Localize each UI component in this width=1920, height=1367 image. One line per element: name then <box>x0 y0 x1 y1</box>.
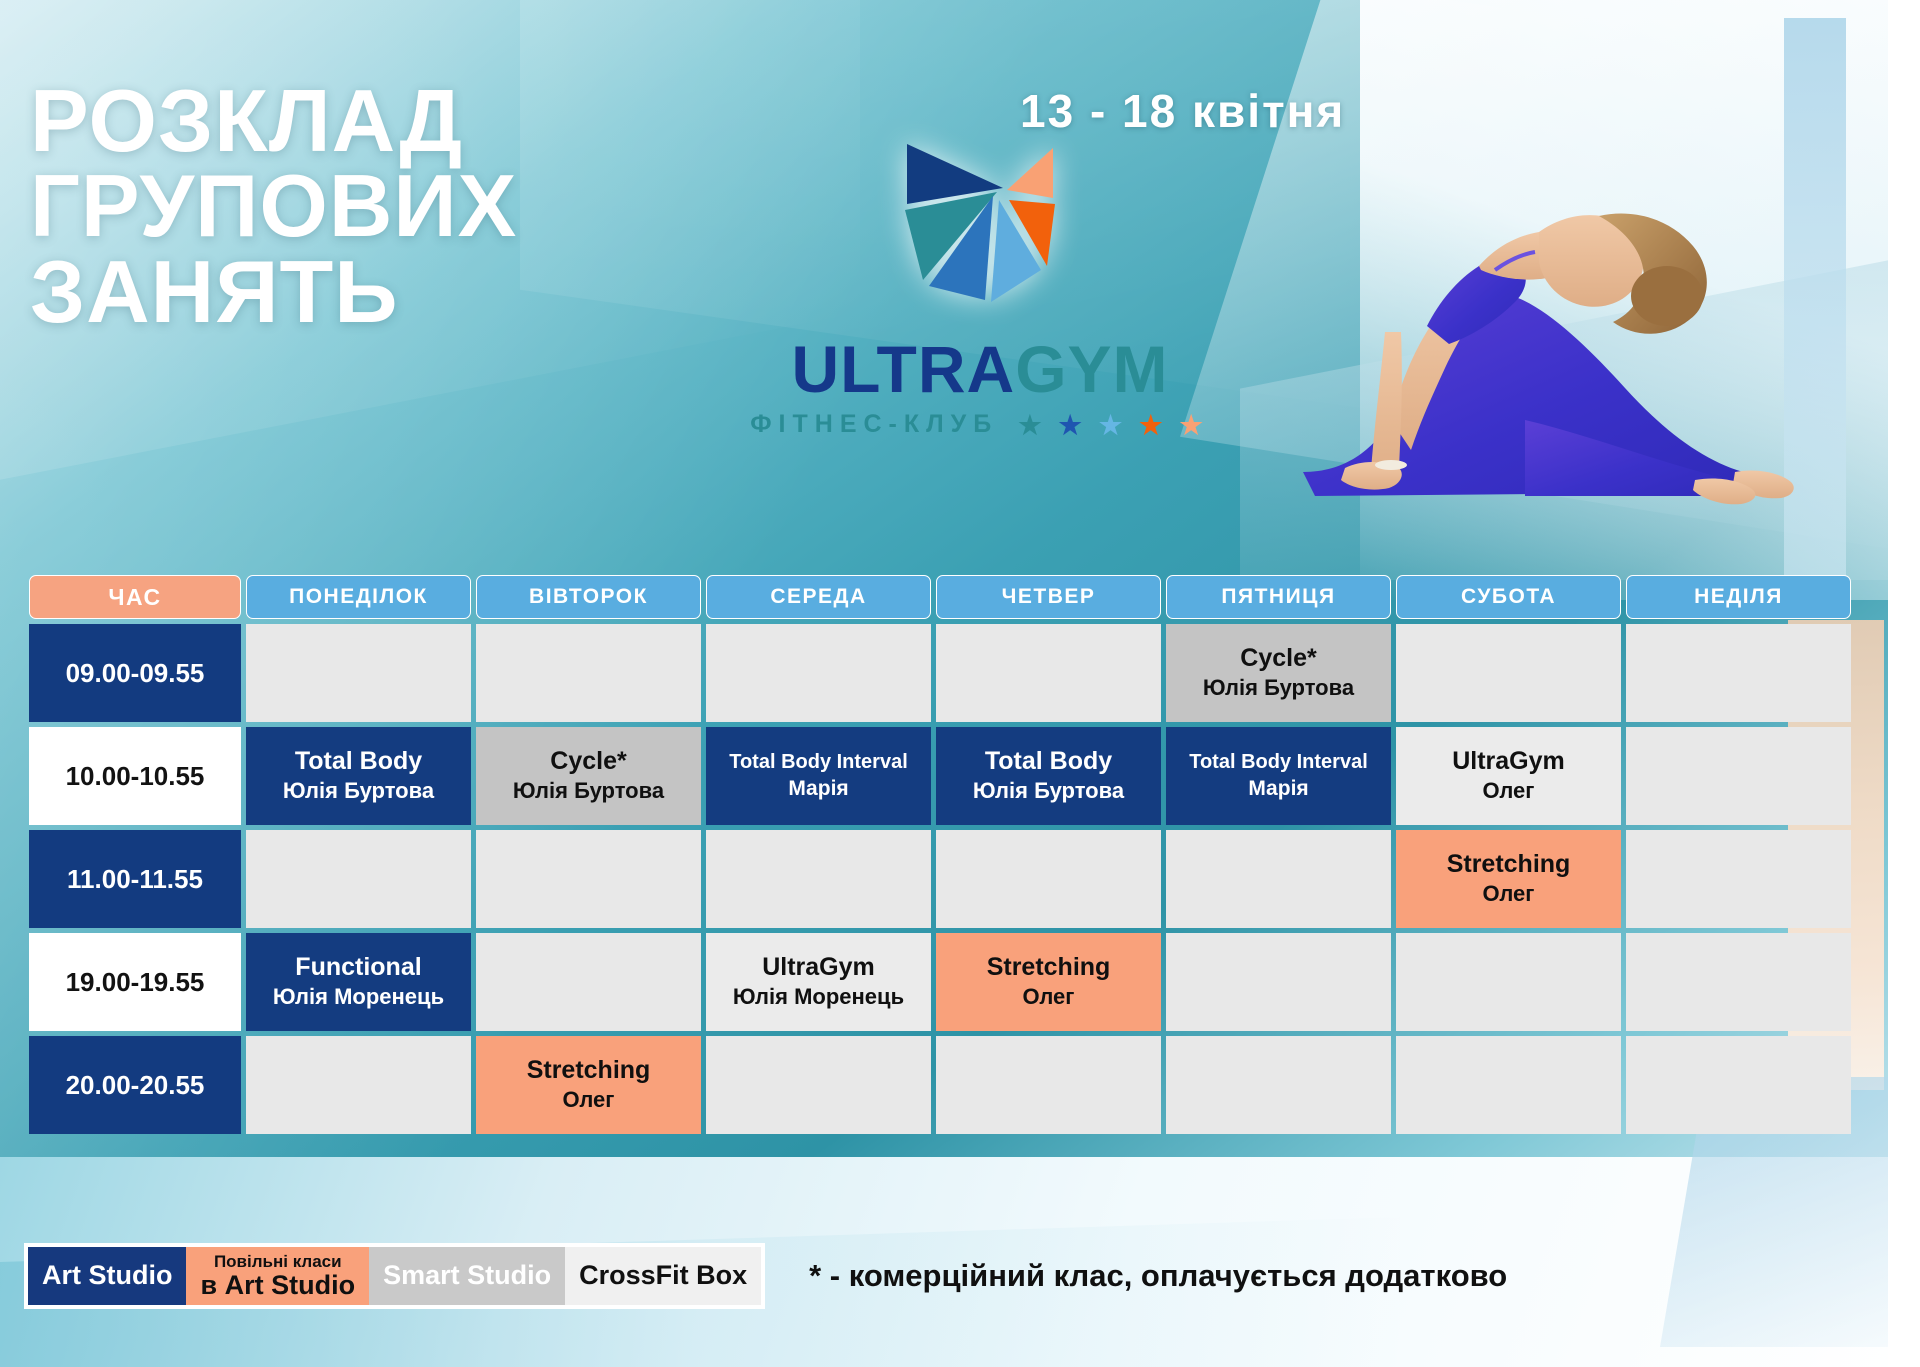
empty-cell <box>1166 830 1391 928</box>
empty-cell <box>936 1036 1161 1134</box>
legend-crossfit-box-label: CrossFit Box <box>579 1260 747 1291</box>
table-header-row: ЧАС ПОНЕДІЛОК ВІВТОРОК СЕРЕДА ЧЕТВЕР ПЯТ… <box>29 575 1851 619</box>
legend-slow-classes: Повільні класи в Art Studio <box>186 1247 369 1305</box>
brand-tagline-row: ФІТНЕС-КЛУБ ★ ★ ★ ★ ★ <box>660 410 1300 439</box>
table-row: 09.00-09.55Cycle*Юлія Буртова <box>29 624 1851 722</box>
empty-cell <box>1396 933 1621 1031</box>
trainer-name: Олег <box>1396 778 1621 804</box>
class-name: Total Body Interval <box>706 751 931 773</box>
header-day-friday: ПЯТНИЦЯ <box>1166 575 1391 619</box>
schedule-table-body: 09.00-09.55Cycle*Юлія Буртова10.00-10.55… <box>29 624 1851 1134</box>
header-day-wednesday: СЕРЕДА <box>706 575 931 619</box>
class-cell[interactable]: Cycle*Юлія Буртова <box>1166 624 1391 722</box>
empty-cell <box>1166 933 1391 1031</box>
trainer-name: Юлія Моренець <box>706 984 931 1010</box>
empty-cell <box>1396 624 1621 722</box>
empty-cell <box>706 1036 931 1134</box>
class-name: UltraGym <box>1396 747 1621 775</box>
time-slot-cell: 20.00-20.55 <box>29 1036 241 1134</box>
class-cell[interactable]: StretchingОлег <box>1396 830 1621 928</box>
class-cell[interactable]: Total BodyЮлія Буртова <box>936 727 1161 825</box>
table-row: 19.00-19.55FunctionalЮлія МоренецьUltraG… <box>29 933 1851 1031</box>
empty-cell <box>476 624 701 722</box>
legend-slow-classes-top: Повільні класи <box>214 1253 342 1271</box>
class-cell[interactable]: FunctionalЮлія Моренець <box>246 933 471 1031</box>
class-cell[interactable]: Total Body IntervalМарія <box>1166 727 1391 825</box>
class-name: Stretching <box>476 1056 701 1084</box>
class-name: Total Body Interval <box>1166 751 1391 773</box>
trainer-name: Марія <box>1166 776 1391 801</box>
shield-logo-icon <box>885 130 1075 330</box>
time-slot-cell: 11.00-11.55 <box>29 830 241 928</box>
empty-cell <box>936 830 1161 928</box>
empty-cell <box>706 830 931 928</box>
empty-cell <box>476 830 701 928</box>
empty-cell <box>1626 727 1851 825</box>
trainer-name: Олег <box>936 984 1161 1010</box>
empty-cell <box>246 830 471 928</box>
empty-cell <box>1626 830 1851 928</box>
header-day-monday: ПОНЕДІЛОК <box>246 575 471 619</box>
commercial-class-footnote: * - комерційний клас, оплачується додатк… <box>809 1258 1507 1294</box>
schedule-poster: РОЗКЛАД ГРУПОВИХ ЗАНЯТЬ 13 - 18 квітня <box>0 0 1920 1367</box>
legend-footer: Art Studio Повільні класи в Art Studio S… <box>24 1243 1884 1309</box>
header-day-thursday: ЧЕТВЕР <box>936 575 1161 619</box>
table-row: 10.00-10.55Total BodyЮлія БуртоваCycle*Ю… <box>29 727 1851 825</box>
header-day-sunday: НЕДІЛЯ <box>1626 575 1851 619</box>
brand-wordmark: ULTRAGYM <box>660 336 1300 402</box>
star-icon-3: ★ <box>1099 412 1129 438</box>
class-cell[interactable]: StretchingОлег <box>936 933 1161 1031</box>
empty-cell <box>476 933 701 1031</box>
brand-wordmark-gym: GYM <box>1015 332 1168 406</box>
star-icon-2: ★ <box>1059 412 1089 438</box>
header-day-tuesday: ВІВТОРОК <box>476 575 701 619</box>
trainer-name: Юлія Моренець <box>246 984 471 1010</box>
brand-wordmark-ultra: ULTRA <box>791 332 1015 406</box>
rating-stars: ★ ★ ★ ★ ★ <box>1018 412 1210 438</box>
header-day-saturday: СУБОТА <box>1396 575 1621 619</box>
table-row: 20.00-20.55StretchingОлег <box>29 1036 1851 1134</box>
title-line-2: ГРУПОВИХ <box>30 163 517 248</box>
schedule-table-container: ЧАС ПОНЕДІЛОК ВІВТОРОК СЕРЕДА ЧЕТВЕР ПЯТ… <box>24 570 1856 1139</box>
time-slot-cell: 19.00-19.55 <box>29 933 241 1031</box>
empty-cell <box>1626 624 1851 722</box>
class-cell[interactable]: Cycle*Юлія Буртова <box>476 727 701 825</box>
empty-cell <box>1626 933 1851 1031</box>
class-cell[interactable]: Total BodyЮлія Буртова <box>246 727 471 825</box>
date-range-label: 13 - 18 квітня <box>1020 84 1345 138</box>
trainer-name: Марія <box>706 776 931 801</box>
empty-cell <box>246 624 471 722</box>
header-time: ЧАС <box>29 575 241 619</box>
table-row: 11.00-11.55StretchingОлег <box>29 830 1851 928</box>
class-cell[interactable]: Total Body IntervalМарія <box>706 727 931 825</box>
star-icon-4: ★ <box>1139 412 1169 438</box>
star-icon-1: ★ <box>1018 412 1048 438</box>
class-name: Total Body <box>936 747 1161 775</box>
schedule-table: ЧАС ПОНЕДІЛОК ВІВТОРОК СЕРЕДА ЧЕТВЕР ПЯТ… <box>24 570 1856 1139</box>
class-name: Cycle* <box>1166 644 1391 672</box>
brand-tagline: ФІТНЕС-КЛУБ <box>750 410 998 439</box>
edge-white-strip <box>1888 0 1920 1367</box>
class-name: Stretching <box>936 953 1161 981</box>
class-cell[interactable]: UltraGymЮлія Моренець <box>706 933 931 1031</box>
trainer-name: Юлія Буртова <box>936 778 1161 804</box>
page-title: РОЗКЛАД ГРУПОВИХ ЗАНЯТЬ <box>30 78 517 334</box>
empty-cell <box>1166 1036 1391 1134</box>
empty-cell <box>1396 1036 1621 1134</box>
empty-cell <box>706 624 931 722</box>
legend-slow-classes-bottom: в Art Studio <box>200 1271 355 1299</box>
trainer-name: Юлія Буртова <box>476 778 701 804</box>
star-icon-5: ★ <box>1179 412 1209 438</box>
trainer-name: Юлія Буртова <box>246 778 471 804</box>
class-cell[interactable]: StretchingОлег <box>476 1036 701 1134</box>
time-slot-cell: 09.00-09.55 <box>29 624 241 722</box>
class-name: Stretching <box>1396 850 1621 878</box>
empty-cell <box>936 624 1161 722</box>
title-line-1: РОЗКЛАД <box>30 78 517 163</box>
trainer-name: Юлія Буртова <box>1166 675 1391 701</box>
empty-cell <box>246 1036 471 1134</box>
legend-art-studio: Art Studio <box>28 1247 186 1305</box>
empty-cell <box>1626 1036 1851 1134</box>
brand-logo: ULTRAGYM ФІТНЕС-КЛУБ ★ ★ ★ ★ ★ <box>660 130 1300 439</box>
legend-smart-studio-label: Smart Studio <box>383 1260 551 1291</box>
class-name: Functional <box>246 953 471 981</box>
trainer-name: Олег <box>1396 881 1621 907</box>
legend-art-studio-label: Art Studio <box>42 1260 172 1291</box>
class-name: Cycle* <box>476 747 701 775</box>
class-name: Total Body <box>246 747 471 775</box>
class-name: UltraGym <box>706 953 931 981</box>
class-cell[interactable]: UltraGymОлег <box>1396 727 1621 825</box>
legend-crossfit-box: CrossFit Box <box>565 1247 761 1305</box>
legend-group: Art Studio Повільні класи в Art Studio S… <box>24 1243 765 1309</box>
legend-smart-studio: Smart Studio <box>369 1247 565 1305</box>
title-line-3: ЗАНЯТЬ <box>30 249 517 334</box>
trainer-name: Олег <box>476 1087 701 1113</box>
time-slot-cell: 10.00-10.55 <box>29 727 241 825</box>
